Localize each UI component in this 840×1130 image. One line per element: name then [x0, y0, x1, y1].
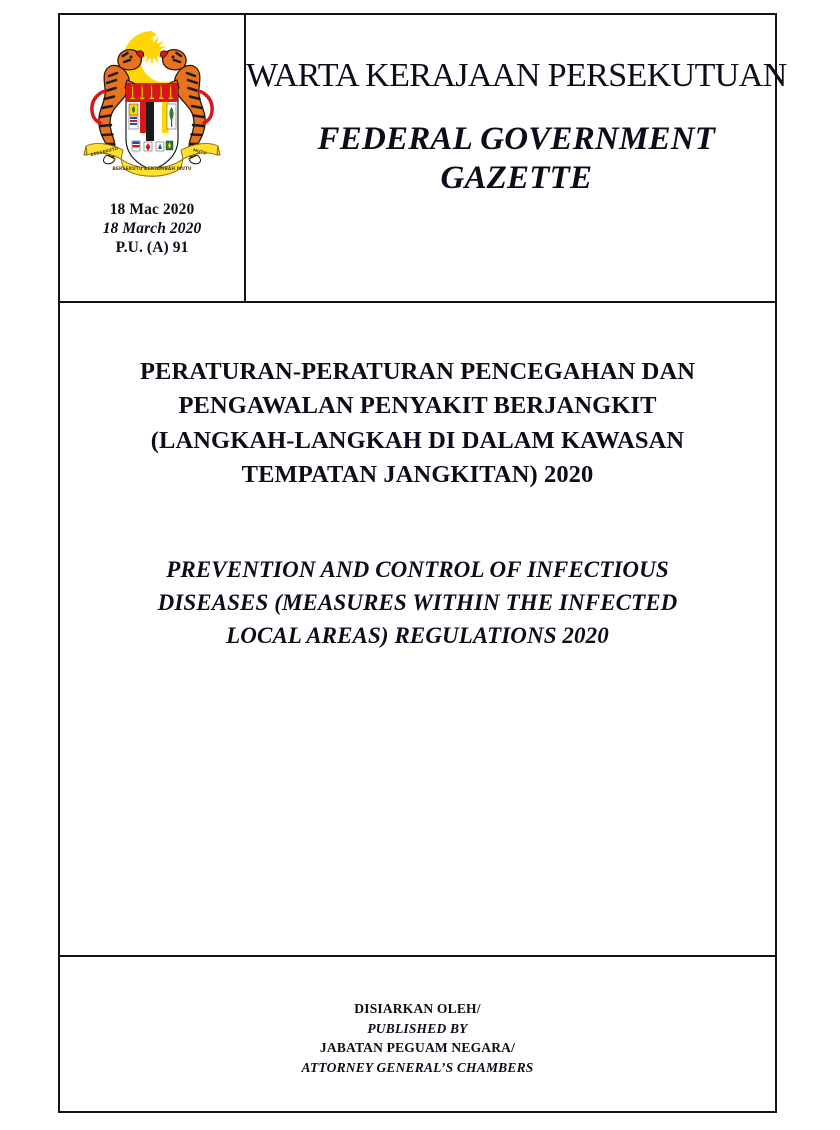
regulation-title-malay: PERATURAN-PERATURAN PENCEGAHAN DAN PENGA… [108, 303, 727, 492]
masthead-titles: WARTA KERAJAAN PERSEKUTUAN FEDERAL GOVER… [246, 15, 787, 301]
regulation-title-area: PERATURAN-PERATURAN PENCEGAHAN DAN PENGA… [60, 303, 775, 957]
gazette-title-english-line-2: GAZETTE [318, 159, 716, 198]
gazette-date-block: 18 Mac 2020 18 March 2020 P.U. (A) 91 [103, 201, 202, 258]
gazette-title-english: FEDERAL GOVERNMENT GAZETTE [318, 120, 716, 198]
publisher-block: DISIARKAN OLEH/ PUBLISHED BY JABATAN PEG… [60, 957, 775, 1112]
published-by-label-malay: DISIARKAN OLEH/ [354, 999, 480, 1019]
regulation-title-malay-line: (LANGKAH-LANGKAH DI DALAM KAWASAN [108, 424, 727, 458]
gazette-title-malay: WARTA KERAJAAN PERSEKUTUAN [246, 57, 787, 94]
publisher-name-english: ATTORNEY GENERAL’S CHAMBERS [302, 1058, 534, 1078]
regulation-title-english-line: DISEASES (MEASURES WITHIN THE INFECTED [108, 587, 727, 620]
regulation-title-english-line: LOCAL AREAS) REGULATIONS 2020 [108, 620, 727, 653]
regulation-title-malay-line: PENGAWALAN PENYAKIT BERJANGKIT [108, 389, 727, 423]
regulation-title-english: PREVENTION AND CONTROL OF INFECTIOUS DIS… [108, 492, 727, 652]
crest-cell: BERSEKUTU BERTAMBAH MUTU BERSEKUTU MUTU … [60, 15, 246, 301]
reference-number: P.U. (A) 91 [103, 239, 202, 258]
date-malay: 18 Mac 2020 [103, 201, 202, 220]
gazette-page-frame: BERSEKUTU BERTAMBAH MUTU BERSEKUTU MUTU … [58, 13, 777, 1113]
regulation-title-malay-line: PERATURAN-PERATURAN PENCEGAHAN DAN [108, 355, 727, 389]
regulation-title-english-line: PREVENTION AND CONTROL OF INFECTIOUS [108, 554, 727, 587]
regulation-title-malay-line: TEMPATAN JANGKITAN) 2020 [108, 458, 727, 492]
shield-escutcheon [126, 84, 178, 170]
gazette-title-english-line-1: FEDERAL GOVERNMENT [318, 120, 716, 159]
publisher-name-malay: JABATAN PEGUAM NEGARA/ [320, 1038, 515, 1058]
svg-text:BERSEKUTU BERTAMBAH MUTU: BERSEKUTU BERTAMBAH MUTU [112, 166, 192, 172]
date-english: 18 March 2020 [103, 220, 202, 239]
masthead: BERSEKUTU BERTAMBAH MUTU BERSEKUTU MUTU … [60, 15, 775, 303]
malaysia-coat-of-arms-icon: BERSEKUTU BERTAMBAH MUTU BERSEKUTU MUTU [77, 21, 227, 199]
published-by-label-english: PUBLISHED BY [367, 1019, 467, 1039]
